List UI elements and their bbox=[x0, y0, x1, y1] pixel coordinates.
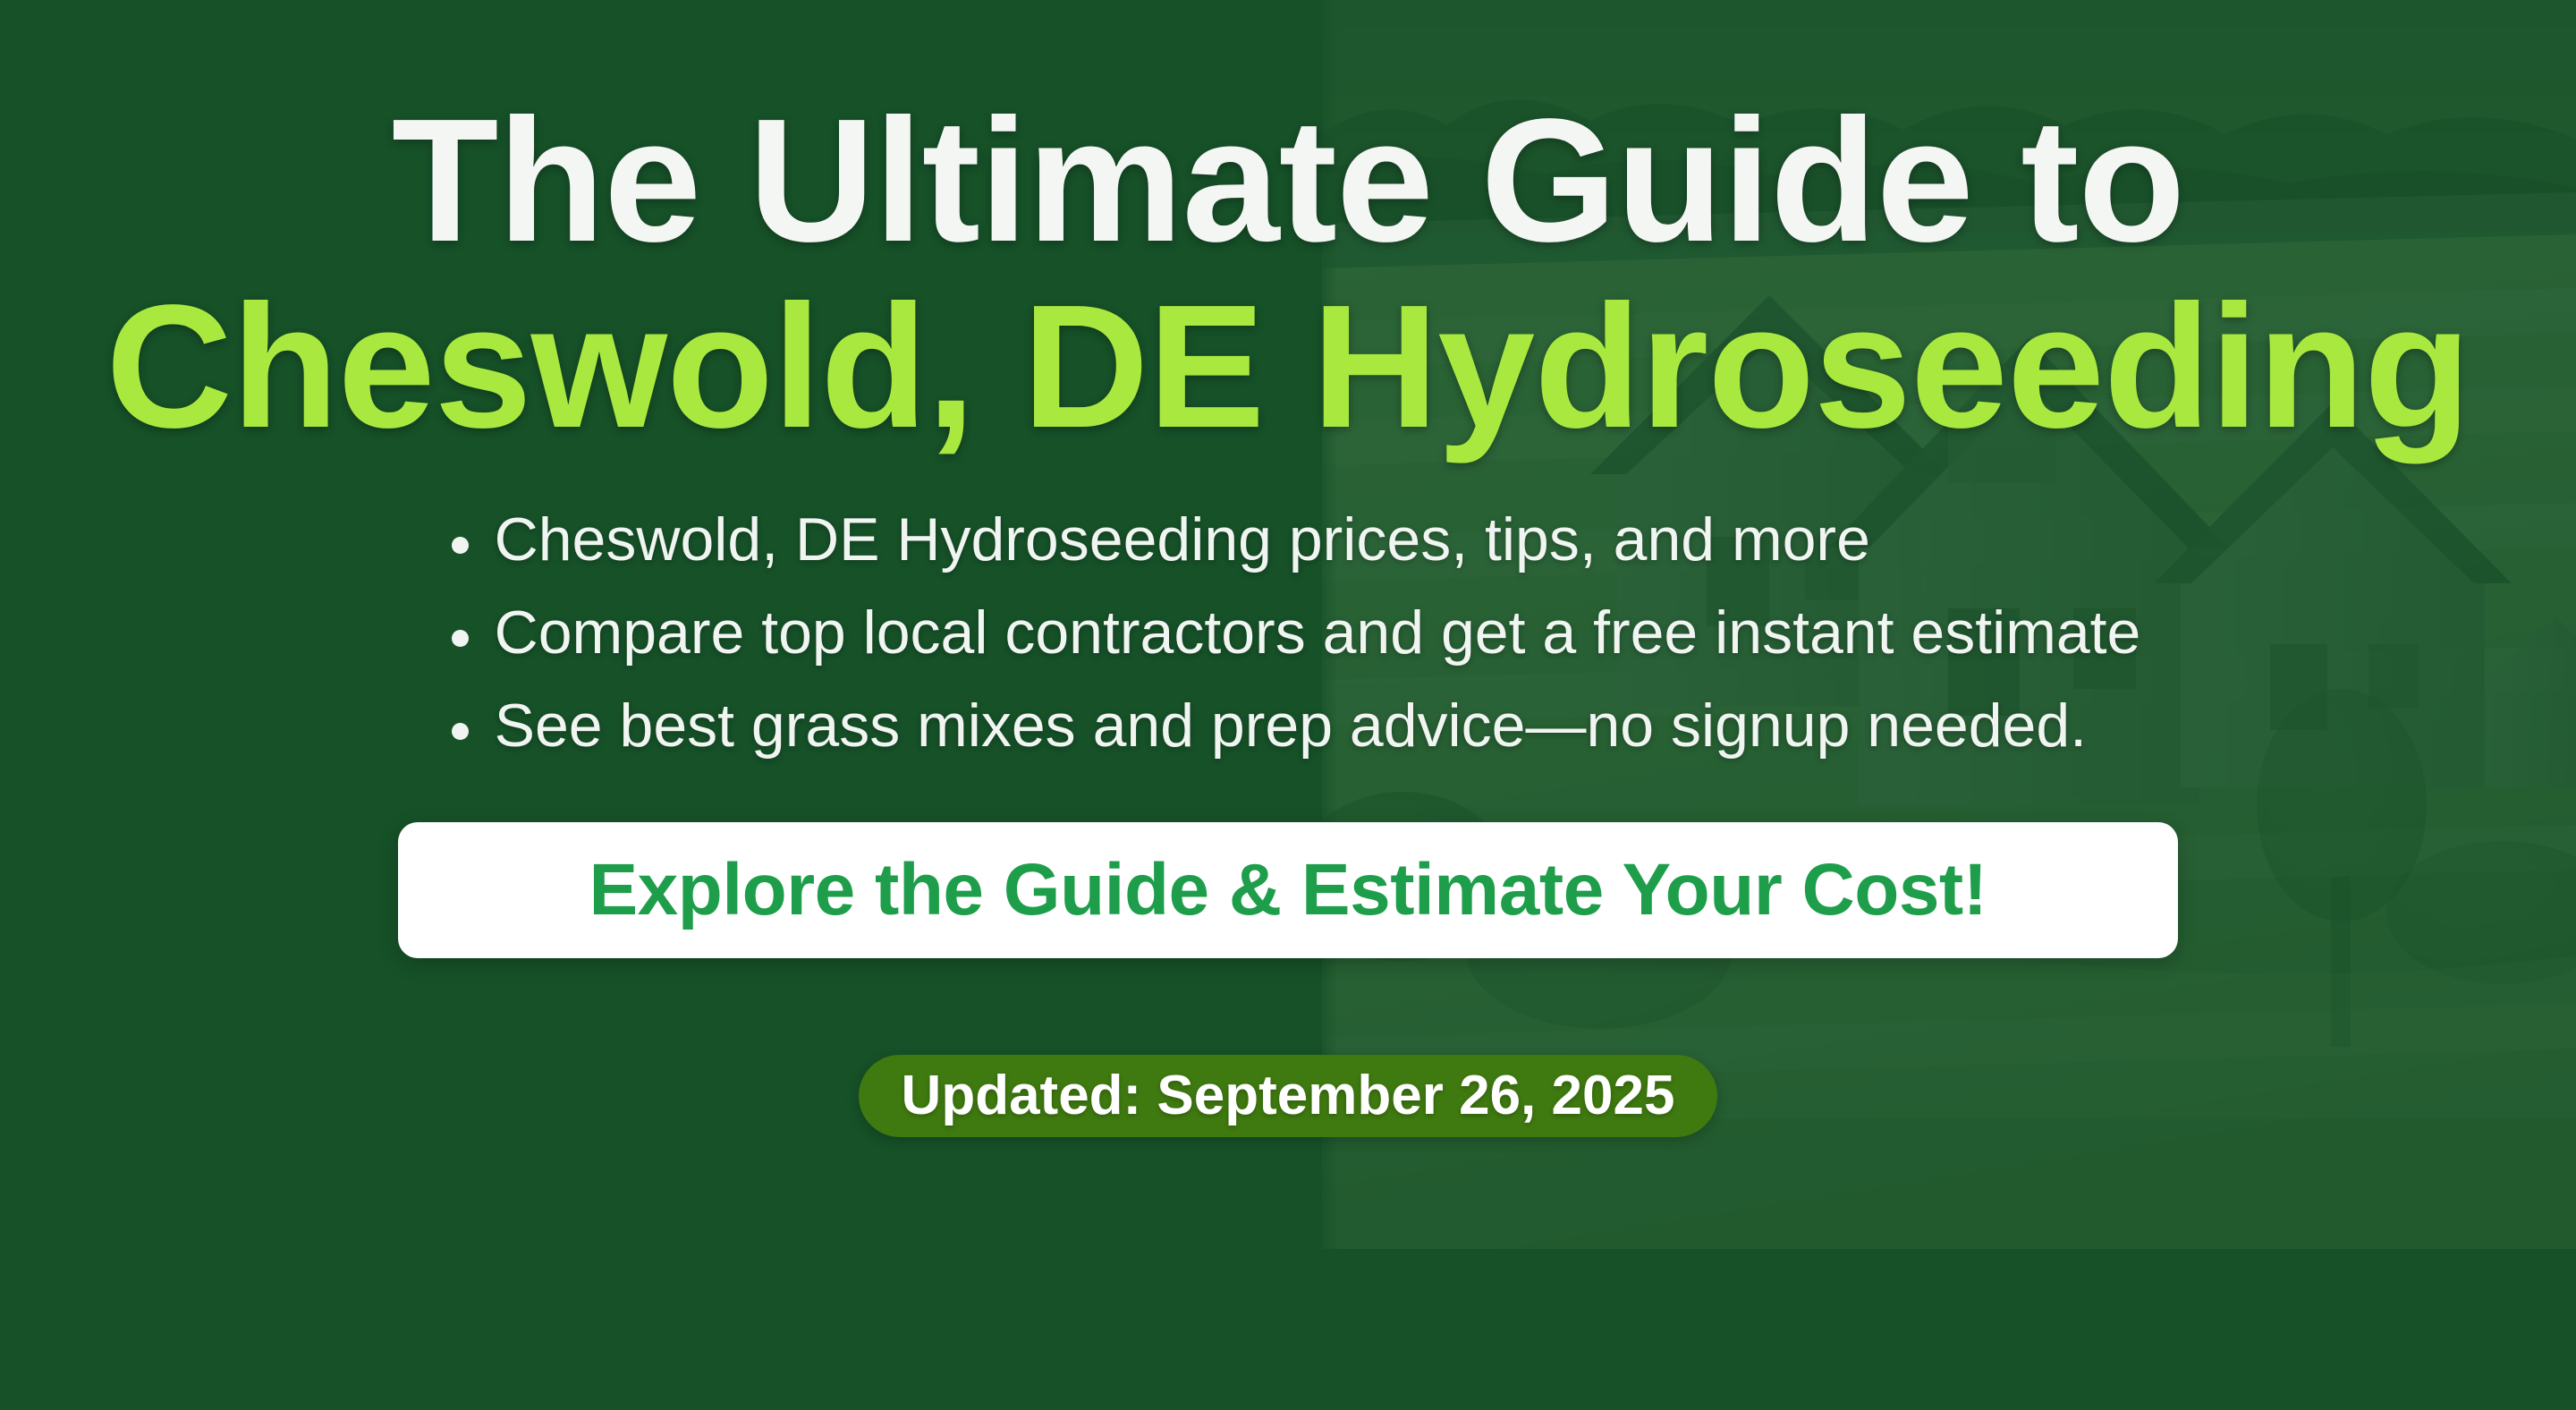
banner-content: The Ultimate Guide to Cheswold, DE Hydro… bbox=[0, 0, 2576, 1410]
hero-banner: The Ultimate Guide to Cheswold, DE Hydro… bbox=[0, 0, 2576, 1410]
list-item: Cheswold, DE Hydroseeding prices, tips, … bbox=[436, 505, 2141, 574]
explore-guide-cta-button[interactable]: Explore the Guide & Estimate Your Cost! bbox=[398, 822, 2178, 958]
updated-date-badge: Updated: September 26, 2025 bbox=[859, 1055, 1718, 1137]
headline-line-primary: The Ultimate Guide to bbox=[106, 93, 2470, 268]
page-title: The Ultimate Guide to Cheswold, DE Hydro… bbox=[106, 93, 2470, 454]
updated-date-label: Updated: September 26, 2025 bbox=[902, 1064, 1675, 1127]
feature-bullet-list: Cheswold, DE Hydroseeding prices, tips, … bbox=[436, 505, 2141, 785]
list-item: See best grass mixes and prep advice—no … bbox=[436, 691, 2141, 760]
list-item: Compare top local contractors and get a … bbox=[436, 598, 2141, 667]
headline-line-location: Cheswold, DE Hydroseeding bbox=[106, 279, 2470, 454]
cta-button-label: Explore the Guide & Estimate Your Cost! bbox=[589, 848, 1987, 932]
